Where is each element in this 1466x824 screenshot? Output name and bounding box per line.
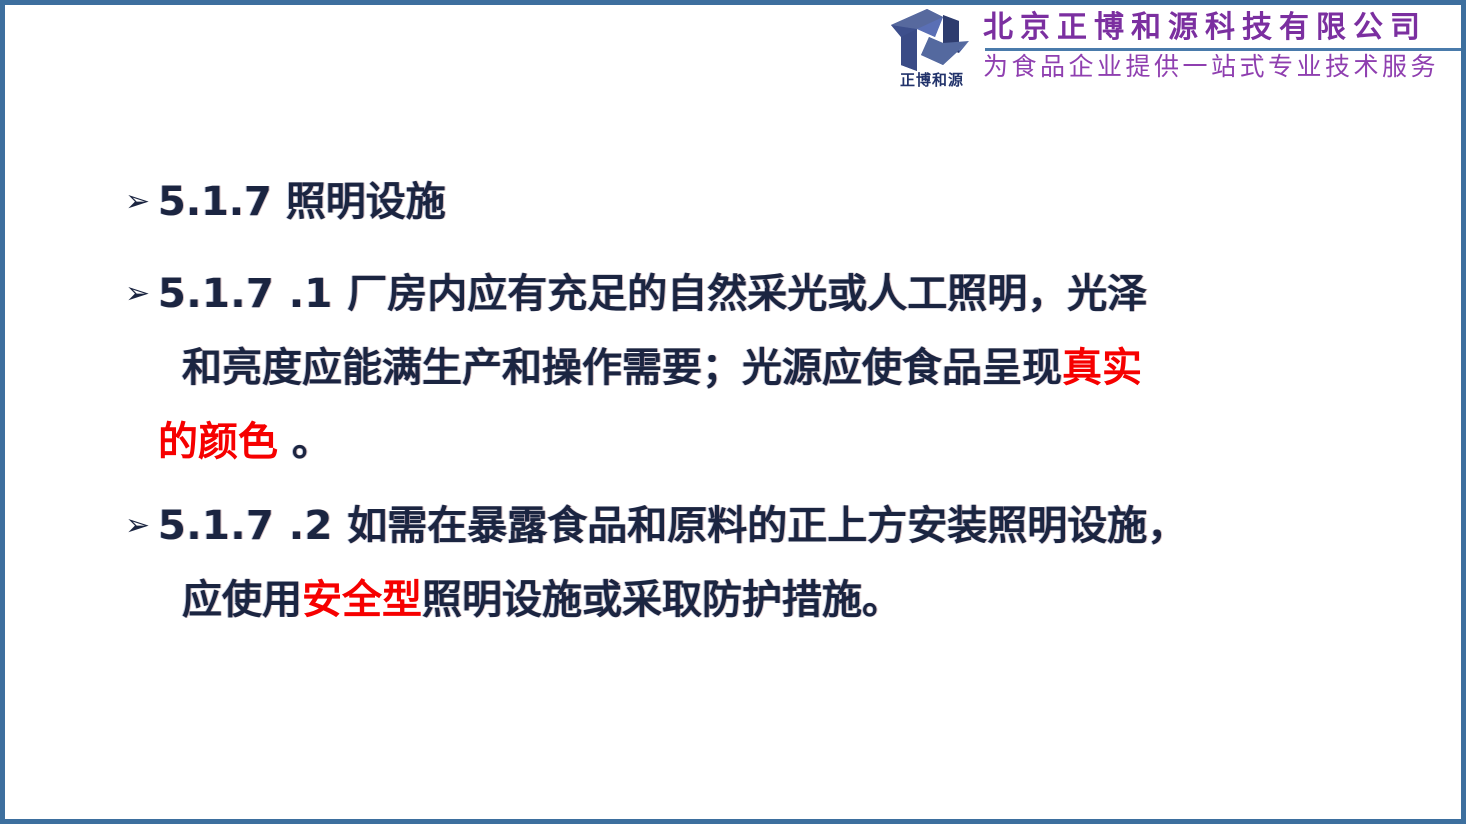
clause-517-1-highlight-1: 真实 <box>1062 345 1142 391</box>
clause-517-2-line2-wrap: 应使用安全型照明设施或采取防护措施。 <box>158 563 1415 637</box>
brand-text-block: 北京正博和源科技有限公司 为食品企业提供一站式专业技术服务 <box>977 5 1466 82</box>
clause-517-1-highlight-2: 的颜色 <box>158 419 278 465</box>
brand-header: 正博和源 北京正博和源科技有限公司 为食品企业提供一站式专业技术服务 <box>885 5 1466 113</box>
slide-canvas: 正博和源 北京正博和源科技有限公司 为食品企业提供一站式专业技术服务 ➢ 5.1… <box>0 0 1466 824</box>
logo-caption: 正博和源 <box>887 73 977 88</box>
arrow-bullet-icon: ➢ <box>125 165 155 239</box>
clause-517-2-line2-post: 照明设施或采取防护措施。 <box>422 577 902 623</box>
logo-z-mark <box>887 7 975 73</box>
clause-517-1-line2: 和亮度应能满生产和操作需要；光源应使食品呈现 <box>182 345 1062 391</box>
bullet-item-517-1: ➢ 5.1.7 .1 厂房内应有充足的自然采光或人工照明，光泽 和亮度应能满生产… <box>125 257 1415 479</box>
arrow-bullet-icon: ➢ <box>125 489 155 563</box>
company-name: 北京正博和源科技有限公司 <box>983 11 1466 46</box>
clause-517-1-line3-tail: 。 <box>278 419 332 465</box>
bullet-heading-text: 5.1.7 照明设施 <box>158 179 446 225</box>
clause-517-1-line1: 厂房内应有充足的自然采光或人工照明，光泽 <box>347 271 1147 317</box>
clause-517-2-line1: 如需在暴露食品和原料的正上方安装照明设施， <box>347 503 1187 549</box>
bullet-item-heading: ➢ 5.1.7 照明设施 <box>125 165 1415 239</box>
company-tagline: 为食品企业提供一站式专业技术服务 <box>983 52 1466 82</box>
clause-517-2-line2-pre: 应使用 <box>182 577 302 623</box>
brand-divider <box>985 48 1466 51</box>
clause-517-2-highlight: 安全型 <box>302 577 422 623</box>
arrow-bullet-icon: ➢ <box>125 257 155 331</box>
company-logo: 正博和源 <box>885 5 977 109</box>
bullet-item-517-2: ➢ 5.1.7 .2 如需在暴露食品和原料的正上方安装照明设施， 应使用安全型照… <box>125 489 1415 637</box>
slide-body: ➢ 5.1.7 照明设施 ➢ 5.1.7 .1 厂房内应有充足的自然采光或人工照… <box>125 165 1415 643</box>
clause-517-1-line3-wrap: 的颜色 。 <box>158 405 1415 479</box>
clause-517-1-line2-wrap: 和亮度应能满生产和操作需要；光源应使食品呈现真实 <box>158 331 1415 405</box>
clause-number-517-1: 5.1.7 .1 <box>158 271 347 317</box>
clause-number-517-2: 5.1.7 .2 <box>158 503 347 549</box>
